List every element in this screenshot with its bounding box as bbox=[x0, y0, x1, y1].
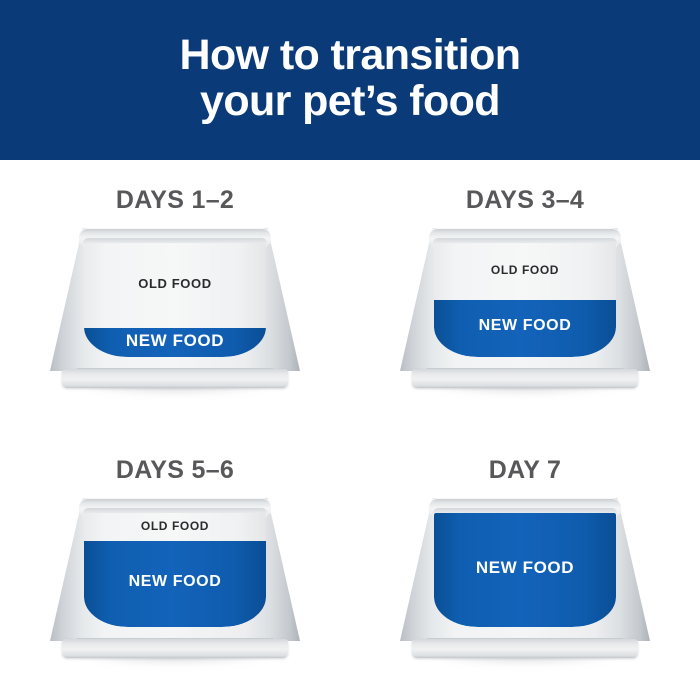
bowl-base bbox=[412, 639, 638, 658]
food-bowl: OLD FOOD NEW FOOD bbox=[50, 228, 300, 388]
bowl-interior: OLD FOOD NEW FOOD bbox=[84, 513, 266, 627]
step-label: DAY 7 bbox=[489, 456, 561, 485]
bowl-interior: OLD FOOD NEW FOOD bbox=[434, 243, 616, 357]
step-label: DAYS 1–2 bbox=[116, 186, 234, 215]
food-bowl: NEW FOOD bbox=[400, 498, 650, 658]
new-food-fill: NEW FOOD bbox=[434, 513, 616, 627]
bowl-base bbox=[412, 369, 638, 388]
new-food-label: NEW FOOD bbox=[84, 331, 266, 351]
new-food-label: NEW FOOD bbox=[434, 317, 616, 335]
bowl-interior: NEW FOOD bbox=[434, 513, 616, 627]
new-food-fill: NEW FOOD bbox=[434, 300, 616, 357]
old-food-label: OLD FOOD bbox=[434, 263, 616, 277]
step-days-1-2: DAYS 1–2 OLD FOOD NEW FOOD bbox=[0, 160, 350, 430]
step-label: DAYS 3–4 bbox=[466, 186, 584, 215]
new-food-label: NEW FOOD bbox=[434, 558, 616, 578]
new-food-fill: NEW FOOD bbox=[84, 541, 266, 627]
page-title: How to transition your pet’s food bbox=[180, 32, 521, 125]
bowl-base bbox=[62, 369, 288, 388]
bowl-interior: OLD FOOD NEW FOOD bbox=[84, 243, 266, 357]
transition-steps-grid: DAYS 1–2 OLD FOOD NEW FOOD DAYS 3–4 bbox=[0, 160, 700, 700]
new-food-label: NEW FOOD bbox=[84, 573, 266, 591]
bowl-base bbox=[62, 639, 288, 658]
new-food-fill: NEW FOOD bbox=[84, 328, 266, 357]
step-days-5-6: DAYS 5–6 OLD FOOD NEW FOOD bbox=[0, 430, 350, 700]
step-label: DAYS 5–6 bbox=[116, 456, 234, 485]
step-days-3-4: DAYS 3–4 OLD FOOD NEW FOOD bbox=[350, 160, 700, 430]
food-bowl: OLD FOOD NEW FOOD bbox=[50, 498, 300, 658]
old-food-label: OLD FOOD bbox=[84, 276, 266, 291]
header-banner: How to transition your pet’s food bbox=[0, 0, 700, 160]
food-bowl: OLD FOOD NEW FOOD bbox=[400, 228, 650, 388]
page-title-line-1: How to transition bbox=[180, 31, 521, 79]
old-food-label: OLD FOOD bbox=[84, 519, 266, 533]
page-title-line-2: your pet’s food bbox=[180, 78, 521, 124]
step-day-7: DAY 7 NEW FOOD bbox=[350, 430, 700, 700]
